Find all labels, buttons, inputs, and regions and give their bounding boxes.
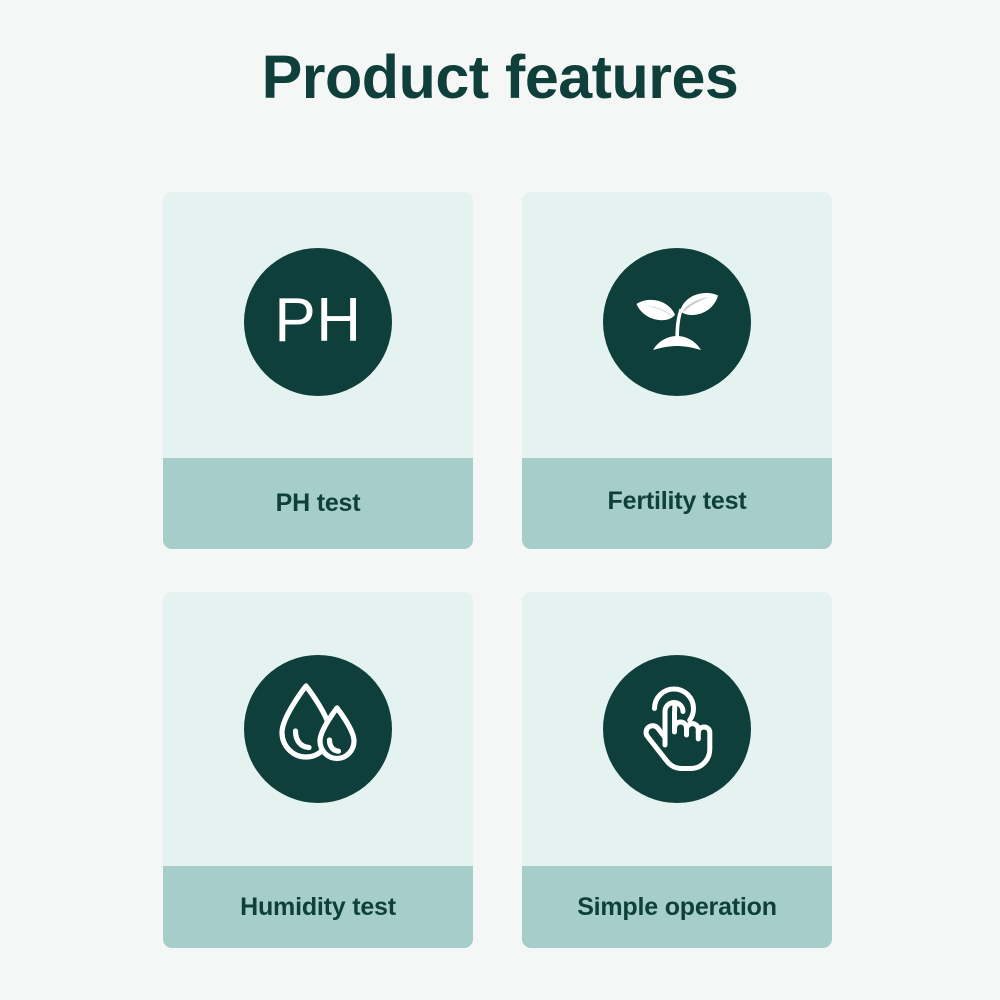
- ph-icon: PH: [244, 248, 392, 396]
- feature-label: PH test: [276, 491, 361, 516]
- card-footer: Simple operation: [522, 866, 832, 948]
- card-media: [522, 192, 832, 458]
- feature-card-simple-operation[interactable]: Simple operation: [522, 592, 832, 948]
- sprout-icon: [603, 248, 751, 396]
- page-title: Product features: [0, 47, 1000, 108]
- water-drops-icon: [244, 655, 392, 803]
- card-footer: PH test: [163, 458, 473, 549]
- feature-card-ph-test[interactable]: PH PH test: [163, 192, 473, 549]
- feature-card-fertility-test[interactable]: Fertility test: [522, 192, 832, 549]
- tap-hand-icon: [603, 655, 751, 803]
- feature-label: Simple operation: [577, 895, 777, 920]
- card-footer: Humidity test: [163, 866, 473, 948]
- card-media: PH: [163, 192, 473, 458]
- card-footer: Fertility test: [522, 458, 832, 549]
- feature-grid: PH PH test: [163, 192, 832, 948]
- card-media: [163, 592, 473, 866]
- feature-label: Fertility test: [608, 489, 747, 514]
- feature-card-humidity-test[interactable]: Humidity test: [163, 592, 473, 948]
- feature-label: Humidity test: [240, 895, 396, 920]
- card-media: [522, 592, 832, 866]
- ph-icon-label: PH: [274, 290, 361, 352]
